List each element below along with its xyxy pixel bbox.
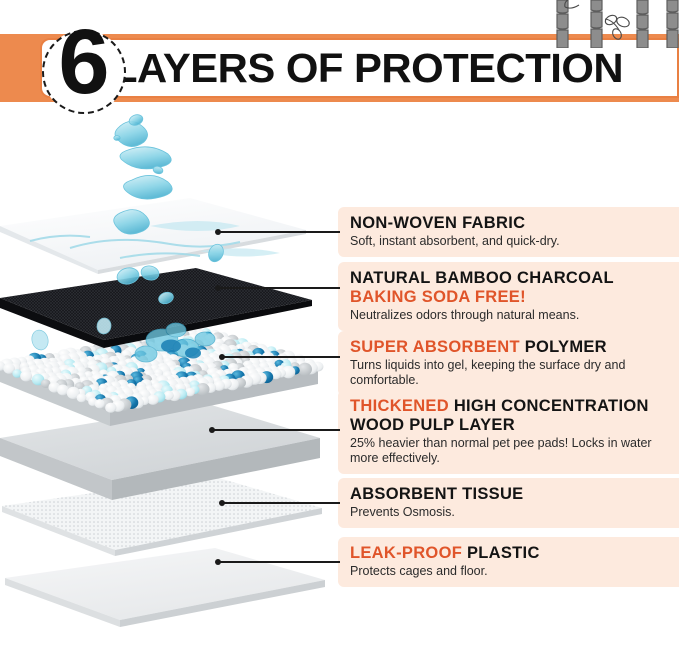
callout-title: ABSORBENT TISSUE	[350, 485, 669, 504]
callout-non-woven: NON-WOVEN FABRIC Soft, instant absorbent…	[338, 207, 679, 257]
connector-line-polymer	[222, 356, 340, 358]
callout-title-plain: PLASTIC	[462, 544, 540, 562]
callout-subtitle: BAKING SODA FREE!	[350, 288, 669, 307]
wood-pulp-sheet	[0, 404, 320, 500]
connector-line-tissue	[222, 502, 340, 504]
callout-title-plain: NATURAL BAMBOO CHARCOAL	[350, 269, 614, 287]
callout-title-highlight: LEAK-PROOF	[350, 544, 462, 562]
callout-title-highlight: SUPER ABSORBENT	[350, 338, 520, 356]
bamboo-stalks-icon	[549, 0, 679, 48]
callout-bamboo-charcoal: NATURAL BAMBOO CHARCOAL BAKING SODA FREE…	[338, 262, 679, 331]
non-woven-fabric-sheet	[0, 198, 306, 274]
callout-title: THICKENED HIGH CONCENTRATION	[350, 397, 669, 416]
callout-title: SUPER ABSORBENT POLYMER	[350, 338, 669, 357]
callout-description: Turns liquids into gel, keeping the surf…	[350, 358, 660, 388]
callout-title-plain: NON-WOVEN FABRIC	[350, 214, 525, 232]
callout-description: 25% heavier than normal pet pee pads! Lo…	[350, 436, 668, 466]
callout-title-plain: ABSORBENT TISSUE	[350, 485, 523, 503]
callout-polymer: SUPER ABSORBENT POLYMER Turns liquids in…	[338, 331, 679, 396]
callout-title: NATURAL BAMBOO CHARCOAL	[350, 269, 669, 288]
infographic-page: LAYERS OF PROTECTION 6	[0, 0, 679, 652]
callout-title: LEAK-PROOF PLASTIC	[350, 544, 669, 563]
connector-line-non-woven	[218, 231, 340, 233]
callout-title-highlight: THICKENED	[350, 397, 449, 415]
connector-line-wood-pulp	[212, 429, 340, 431]
callout-description: Prevents Osmosis.	[350, 505, 669, 520]
callout-tissue: ABSORBENT TISSUE Prevents Osmosis.	[338, 478, 679, 528]
connector-line-bamboo-charcoal	[218, 287, 340, 289]
connector-line-plastic	[218, 561, 340, 563]
callout-description: Protects cages and floor.	[350, 564, 669, 579]
leak-proof-plastic-sheet	[5, 548, 325, 627]
callout-plastic: LEAK-PROOF PLASTIC Protects cages and fl…	[338, 537, 679, 587]
callout-description: Soft, instant absorbent, and quick-dry.	[350, 234, 669, 249]
callout-title-plain: HIGH CONCENTRATION	[449, 397, 649, 415]
callout-description: Neutralizes odors through natural means.	[350, 308, 669, 323]
callout-title-line2: WOOD PULP LAYER	[350, 416, 669, 435]
callout-title: NON-WOVEN FABRIC	[350, 214, 669, 233]
page-title: LAYERS OF PROTECTION	[112, 40, 679, 96]
callout-title-plain: POLYMER	[520, 338, 607, 356]
number-badge-value: 6	[42, 14, 126, 110]
exploded-layer-stack-illustration	[0, 108, 340, 628]
callout-wood-pulp: THICKENED HIGH CONCENTRATION WOOD PULP L…	[338, 390, 679, 474]
